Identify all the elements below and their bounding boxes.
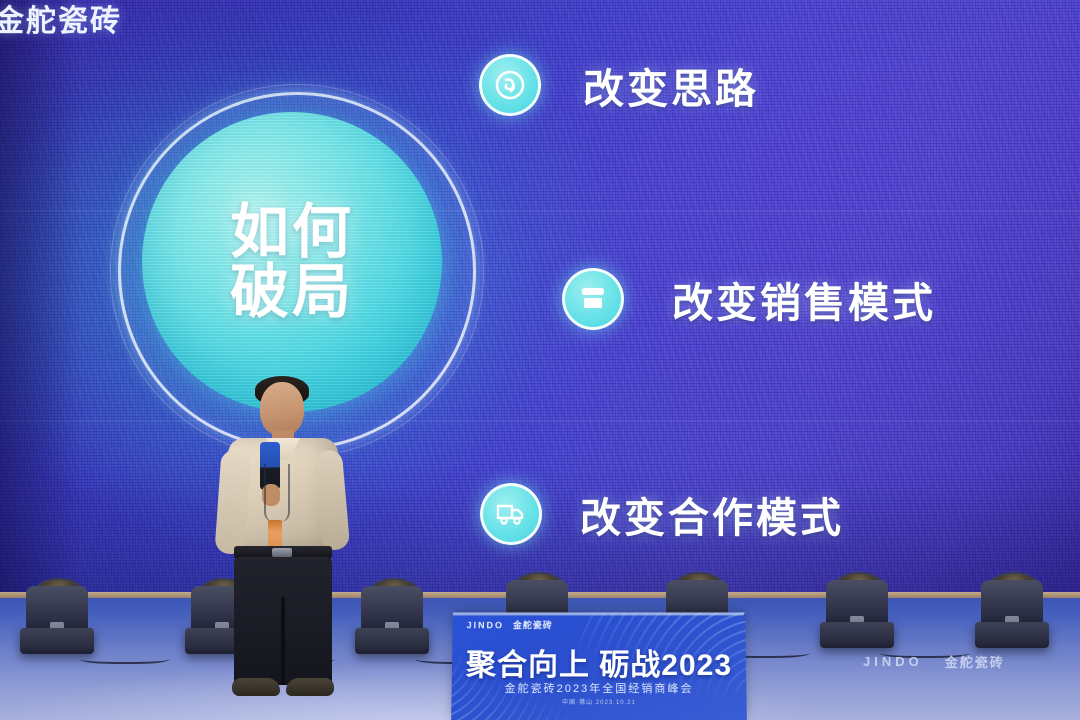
wall-seam (0, 420, 1080, 422)
stage-photo: 金舵瓷砖 如何 破局 改变思路 改变销售模式 (0, 0, 1080, 720)
podium-title: 聚合向上 砺战2023 (452, 640, 747, 684)
podium-date-location: 中国·佛山 2023.10.21 (451, 697, 746, 706)
podium-subtitle: 金舵瓷砖2023年全国经销商峰会 (452, 680, 747, 696)
spiral-idea-icon (479, 54, 541, 116)
slide-bullet-2-label: 改变销售模式 (672, 269, 936, 329)
moving-head-light (355, 578, 429, 658)
slide-bullet-3-label: 改变合作模式 (580, 484, 844, 544)
slide-bullet-1-label: 改变思路 (583, 55, 759, 115)
podium-logo: JINDO 金舵瓷砖 (467, 618, 553, 631)
slide-bullet-1: 改变思路 (479, 54, 759, 116)
delivery-truck-icon (480, 483, 542, 545)
slide-bullet-2: 改变销售模式 (562, 268, 936, 330)
moving-head-light (820, 572, 894, 652)
podium-sign: JINDO 金舵瓷砖 聚合向上 砺战2023 金舵瓷砖2023年全国经销商峰会 … (451, 612, 747, 720)
circle-headline-line1: 如何 (230, 202, 354, 262)
podium-logo-cn: 金舵瓷砖 (513, 618, 553, 631)
floor-logo-latin: JINDO (863, 654, 923, 669)
circle-headline-text: 如何 破局 (230, 202, 354, 322)
storefront-icon (562, 268, 624, 330)
speaker-person (206, 372, 366, 720)
floor-brand-logo: JINDO 金舵瓷砖 (863, 652, 1005, 671)
floor-logo-cn: 金舵瓷砖 (945, 652, 1005, 671)
slide-bullet-3: 改变合作模式 (480, 483, 844, 545)
podium-logo-latin: JINDO (467, 620, 504, 630)
moving-head-light (20, 578, 94, 658)
circle-headline-line2: 破局 (230, 262, 354, 322)
circle-headline-badge: 如何 破局 (142, 112, 442, 412)
moving-head-light (975, 572, 1049, 652)
brand-wordmark-top-left: 金舵瓷砖 (0, 0, 122, 40)
